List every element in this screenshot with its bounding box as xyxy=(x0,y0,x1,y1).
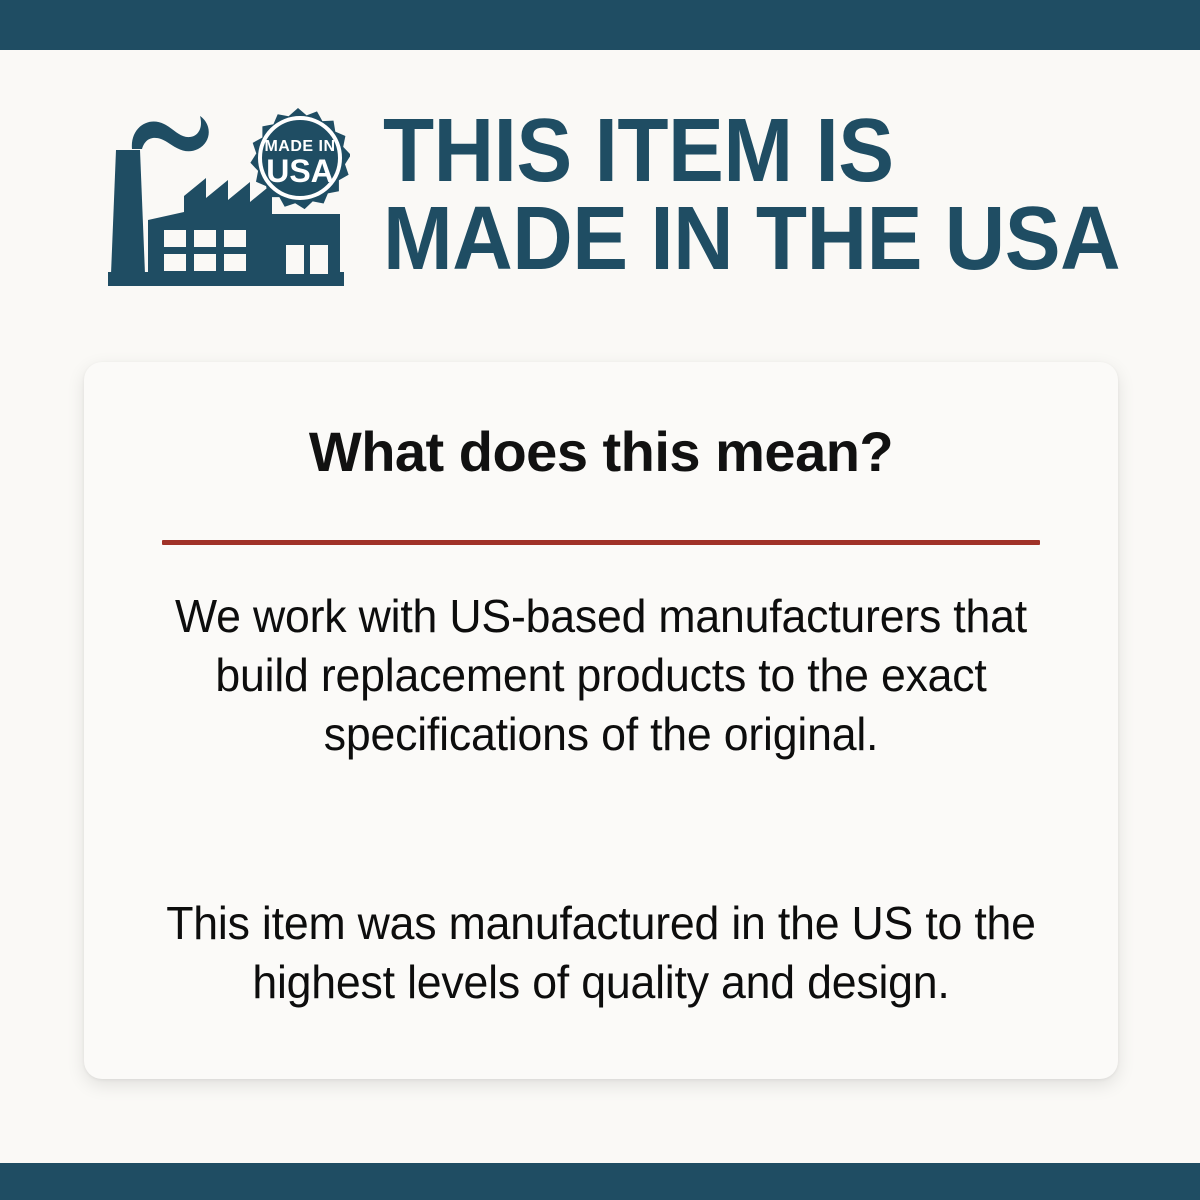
explanation-card: What does this mean? We work with US-bas… xyxy=(84,362,1118,1079)
card-paragraph-2: This item was manufactured in the US to … xyxy=(155,894,1047,1012)
bottom-accent-bar xyxy=(0,1163,1200,1200)
page-title: THIS ITEM IS MADE IN THE USA xyxy=(383,107,1118,283)
card-title: What does this mean? xyxy=(84,422,1118,482)
headline-line-2: MADE IN THE USA xyxy=(383,195,1118,283)
top-accent-bar xyxy=(0,0,1200,50)
headline-line-1: THIS ITEM IS xyxy=(383,107,1118,195)
title-divider xyxy=(162,540,1040,545)
made-in-usa-info-page: MADE IN USA THIS ITEM IS MADE IN THE USA… xyxy=(0,0,1200,1200)
page-header: MADE IN USA THIS ITEM IS MADE IN THE USA xyxy=(0,50,1200,310)
factory-icon: MADE IN USA xyxy=(100,102,350,292)
card-body: We work with US-based manufacturers that… xyxy=(141,587,1061,1012)
badge-line2: USA xyxy=(266,153,334,189)
card-paragraph-1: We work with US-based manufacturers that… xyxy=(155,587,1047,764)
